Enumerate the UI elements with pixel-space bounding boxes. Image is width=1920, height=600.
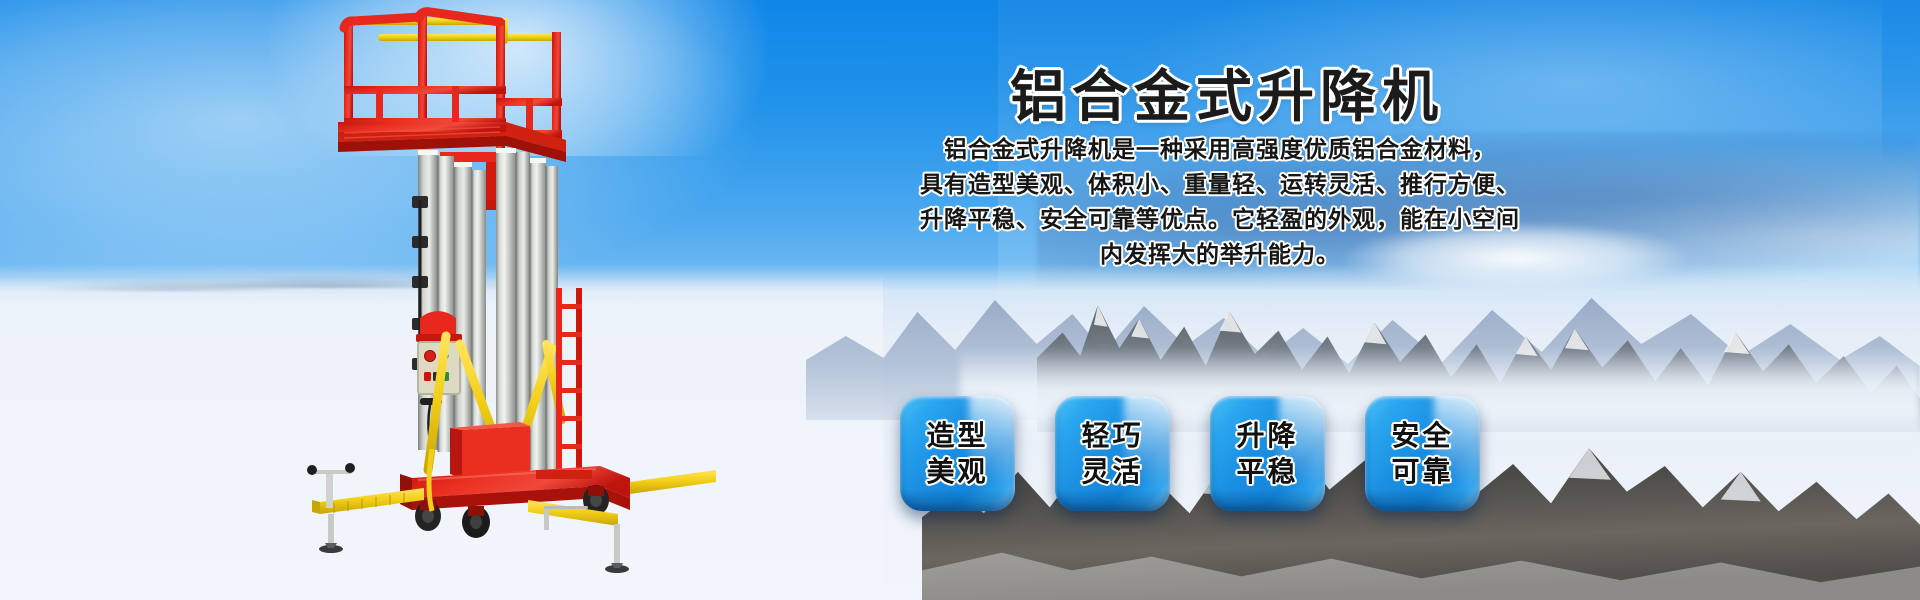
- page-title: 铝合金式升降机: [1010, 52, 1444, 133]
- badge-line-top: 安全: [1391, 418, 1453, 454]
- badge-line-top: 轻巧: [1081, 418, 1143, 454]
- description-block: 铝合金式升降机是一种采用高强度优质铝合金材料， 具有造型美观、体积小、重量轻、运…: [900, 133, 1540, 273]
- badge-line-bottom: 灵活: [1081, 454, 1143, 490]
- lift-machine-illustration: [300, 0, 720, 600]
- description-line-3: 升降平稳、安全可靠等优点。它轻盈的外观，能在小空间: [900, 203, 1540, 238]
- badge-line-top: 造型: [926, 418, 988, 454]
- distant-ridge-secondary: [38, 279, 307, 291]
- feature-badge-safe-reliable[interactable]: 安全 可靠: [1365, 396, 1480, 511]
- badge-line-bottom: 可靠: [1391, 454, 1453, 490]
- badge-line-bottom: 平稳: [1236, 454, 1298, 490]
- description-line-1: 铝合金式升降机是一种采用高强度优质铝合金材料，: [900, 133, 1540, 168]
- side-ladder: [556, 288, 582, 474]
- product-banner: 铝合金式升降机 铝合金式升降机是一种采用高强度优质铝合金材料， 具有造型美观、体…: [0, 0, 1920, 600]
- feature-badge-smooth-lifting[interactable]: 升降 平稳: [1210, 396, 1325, 511]
- feature-badge-lightweight[interactable]: 轻巧 灵活: [1055, 396, 1170, 511]
- badge-line-bottom: 美观: [926, 454, 988, 490]
- feature-badge-appearance[interactable]: 造型 美观: [900, 396, 1015, 511]
- feature-badge-list: 造型 美观 轻巧 灵活 升降 平稳 安全 可靠: [900, 396, 1480, 511]
- description-line-4: 内发挥大的举升能力。: [900, 238, 1540, 273]
- counterweight-box: [450, 422, 530, 478]
- description-line-2: 具有造型美观、体积小、重量轻、运转灵活、推行方便、: [900, 168, 1540, 203]
- badge-line-top: 升降: [1236, 418, 1298, 454]
